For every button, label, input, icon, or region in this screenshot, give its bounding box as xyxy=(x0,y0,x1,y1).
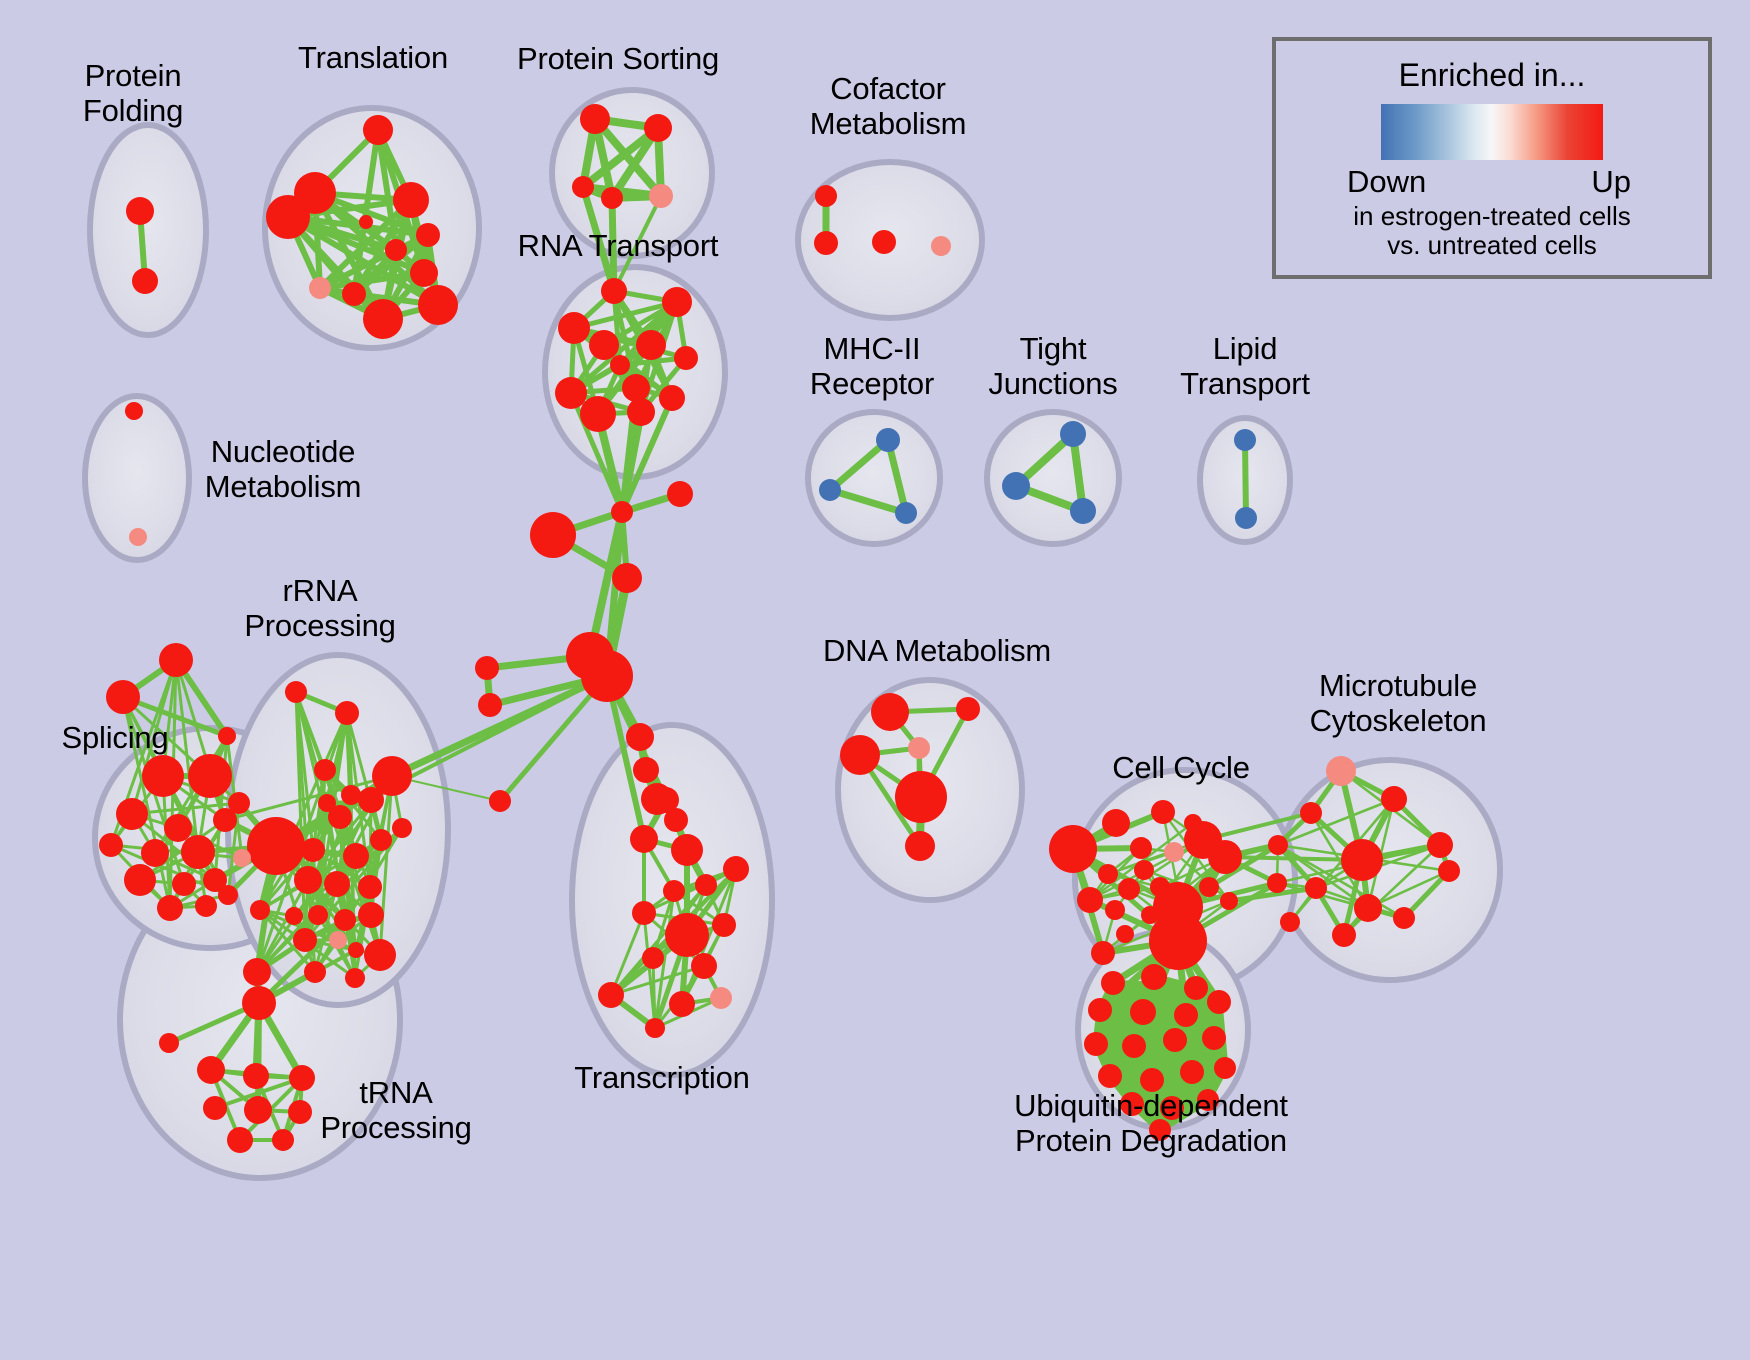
gene-set-node[interactable] xyxy=(555,377,587,409)
gene-set-node[interactable] xyxy=(341,785,361,805)
gene-set-node[interactable] xyxy=(181,835,215,869)
gene-set-node[interactable] xyxy=(172,872,196,896)
cluster-label-protein-folding: Protein Folding xyxy=(83,58,183,128)
gene-set-node[interactable] xyxy=(649,184,673,208)
gene-set-node[interactable] xyxy=(1116,925,1134,943)
gene-set-node[interactable] xyxy=(659,385,685,411)
gene-set-node[interactable] xyxy=(243,1063,269,1089)
halo-protein-folding xyxy=(90,125,206,335)
gene-set-node[interactable] xyxy=(872,230,896,254)
gene-set-node[interactable] xyxy=(370,829,392,851)
gene-set-node[interactable] xyxy=(627,398,655,426)
gene-set-node[interactable] xyxy=(601,187,623,209)
gene-set-node[interactable] xyxy=(814,231,838,255)
cluster-label-lipid-transport: Lipid Transport xyxy=(1180,331,1310,401)
gene-set-node[interactable] xyxy=(1174,1003,1198,1027)
gene-set-node[interactable] xyxy=(393,182,429,218)
gene-set-node[interactable] xyxy=(636,330,666,360)
gene-set-node[interactable] xyxy=(1268,835,1288,855)
gene-set-node[interactable] xyxy=(1267,873,1287,893)
gene-set-node[interactable] xyxy=(895,502,917,524)
gene-set-node[interactable] xyxy=(1214,1057,1236,1079)
gene-set-node[interactable] xyxy=(272,1129,294,1151)
gene-set-node[interactable] xyxy=(601,278,627,304)
gene-set-node[interactable] xyxy=(416,223,440,247)
gene-set-node[interactable] xyxy=(1091,941,1115,965)
gene-set-node[interactable] xyxy=(129,528,147,546)
gene-set-node[interactable] xyxy=(632,901,656,925)
gene-set-node[interactable] xyxy=(126,197,154,225)
gene-set-node[interactable] xyxy=(359,215,373,229)
gene-set-node[interactable] xyxy=(695,874,717,896)
gene-set-node[interactable] xyxy=(1332,923,1356,947)
cluster-label-rrna: rRNA Processing xyxy=(244,573,395,643)
gene-set-node[interactable] xyxy=(710,987,732,1009)
gene-set-node[interactable] xyxy=(840,735,880,775)
gene-set-node[interactable] xyxy=(141,839,169,867)
gene-set-node[interactable] xyxy=(1105,900,1125,920)
gene-set-node[interactable] xyxy=(669,991,695,1017)
gene-set-node[interactable] xyxy=(1141,964,1167,990)
cluster-label-dna-metabolism: DNA Metabolism xyxy=(823,633,1051,668)
gene-set-node[interactable] xyxy=(345,968,365,988)
cluster-label-trna: tRNA Processing xyxy=(320,1075,471,1145)
gene-set-node[interactable] xyxy=(159,1033,179,1053)
gene-set-node[interactable] xyxy=(723,856,749,882)
gene-set-node[interactable] xyxy=(324,871,350,897)
gene-set-node[interactable] xyxy=(931,236,951,256)
gene-set-node[interactable] xyxy=(1122,1034,1146,1058)
gene-set-node[interactable] xyxy=(642,947,664,969)
gene-set-node[interactable] xyxy=(815,185,837,207)
gene-set-node[interactable] xyxy=(1141,906,1159,924)
gene-set-node[interactable] xyxy=(358,902,384,928)
gene-set-node[interactable] xyxy=(233,849,251,867)
gene-set-node[interactable] xyxy=(645,1018,665,1038)
gene-set-node[interactable] xyxy=(610,355,630,375)
gene-set-node[interactable] xyxy=(895,771,947,823)
gene-set-node[interactable] xyxy=(1130,999,1156,1025)
gene-set-node[interactable] xyxy=(266,195,310,239)
gene-set-node[interactable] xyxy=(589,330,619,360)
gene-set-node[interactable] xyxy=(285,681,307,703)
legend-subtitle: in estrogen-treated cells vs. untreated … xyxy=(1276,202,1708,260)
gene-set-node[interactable] xyxy=(329,931,347,949)
gene-set-node[interactable] xyxy=(1381,786,1407,812)
gene-set-node[interactable] xyxy=(1393,907,1415,929)
gene-set-node[interactable] xyxy=(475,656,499,680)
gene-set-node[interactable] xyxy=(363,115,393,145)
gene-set-node[interactable] xyxy=(622,374,650,402)
gene-set-node[interactable] xyxy=(410,259,438,287)
gene-set-node[interactable] xyxy=(712,913,736,937)
gene-set-node[interactable] xyxy=(197,1056,225,1084)
gene-set-node[interactable] xyxy=(385,239,407,261)
enrichment-map-figure: Protein Folding Translation Protein Sort… xyxy=(0,0,1750,1360)
gene-set-node[interactable] xyxy=(876,428,900,452)
gene-set-node[interactable] xyxy=(1098,1064,1122,1088)
gene-set-node[interactable] xyxy=(334,909,356,931)
gene-set-node[interactable] xyxy=(124,864,156,896)
gene-set-node[interactable] xyxy=(905,831,935,861)
gene-set-node[interactable] xyxy=(247,817,305,875)
gene-set-node[interactable] xyxy=(489,790,511,812)
gene-set-node[interactable] xyxy=(132,268,158,294)
legend-endpoints: Down Up xyxy=(1347,164,1637,200)
gene-set-node[interactable] xyxy=(674,346,698,370)
gene-set-node[interactable] xyxy=(392,818,412,838)
gene-set-node[interactable] xyxy=(364,939,396,971)
gene-set-node[interactable] xyxy=(819,479,841,501)
gene-set-node[interactable] xyxy=(1070,498,1096,524)
gene-set-node[interactable] xyxy=(667,481,693,507)
cluster-label-tight-junctions: Tight Junctions xyxy=(988,331,1117,401)
gene-set-node[interactable] xyxy=(1049,825,1097,873)
gene-set-node[interactable] xyxy=(1077,887,1103,913)
gene-set-node[interactable] xyxy=(1427,832,1453,858)
gene-set-node[interactable] xyxy=(1300,802,1322,824)
gene-set-node[interactable] xyxy=(106,680,140,714)
gene-set-node[interactable] xyxy=(1235,507,1257,529)
cluster-label-splicing: Splicing xyxy=(62,720,169,755)
cluster-label-rna-transport: RNA Transport xyxy=(518,228,719,263)
gene-set-node[interactable] xyxy=(195,895,217,917)
gene-set-node[interactable] xyxy=(530,512,576,558)
gene-set-node[interactable] xyxy=(188,754,232,798)
gene-set-node[interactable] xyxy=(908,737,930,759)
gene-set-node[interactable] xyxy=(1184,976,1208,1000)
gene-set-node[interactable] xyxy=(1220,892,1238,910)
gene-set-node[interactable] xyxy=(1134,860,1154,880)
gene-set-node[interactable] xyxy=(1326,756,1356,786)
cluster-label-protein-sorting: Protein Sorting xyxy=(517,41,719,76)
gene-set-node[interactable] xyxy=(478,693,502,717)
gene-set-node[interactable] xyxy=(228,792,250,814)
legend-title: Enriched in... xyxy=(1276,57,1708,94)
gene-set-node[interactable] xyxy=(581,650,633,702)
gene-set-node[interactable] xyxy=(1098,864,1118,884)
legend-up-label: Up xyxy=(1591,164,1631,200)
gene-set-node[interactable] xyxy=(358,875,382,899)
gene-set-node[interactable] xyxy=(580,396,616,432)
gene-set-node[interactable] xyxy=(572,176,594,198)
legend-panel: Enriched in... Down Up in estrogen-treat… xyxy=(1272,37,1712,279)
gene-set-node[interactable] xyxy=(1149,912,1207,970)
gene-set-node[interactable] xyxy=(1130,837,1152,859)
gene-set-node[interactable] xyxy=(598,982,624,1008)
gene-set-node[interactable] xyxy=(116,798,148,830)
gene-set-node[interactable] xyxy=(1101,971,1125,995)
gene-set-node[interactable] xyxy=(285,907,303,925)
gene-set-node[interactable] xyxy=(308,905,328,925)
gene-set-node[interactable] xyxy=(664,808,688,832)
gene-set-node[interactable] xyxy=(294,866,322,894)
gene-set-node[interactable] xyxy=(1207,990,1231,1014)
gene-set-node[interactable] xyxy=(612,563,642,593)
gene-set-node[interactable] xyxy=(558,312,590,344)
gene-set-node[interactable] xyxy=(164,814,192,842)
gene-set-node[interactable] xyxy=(242,986,276,1020)
gene-set-node[interactable] xyxy=(293,928,317,952)
gene-set-node[interactable] xyxy=(335,701,359,725)
gene-set-node[interactable] xyxy=(218,885,238,905)
gene-set-node[interactable] xyxy=(218,727,236,745)
gene-set-node[interactable] xyxy=(159,643,193,677)
gene-set-node[interactable] xyxy=(125,402,143,420)
gene-set-node[interactable] xyxy=(611,501,633,523)
gene-set-node[interactable] xyxy=(665,913,709,957)
gene-set-node[interactable] xyxy=(304,961,326,983)
cluster-label-mhc-ii: MHC-II Receptor xyxy=(810,331,934,401)
gene-set-node[interactable] xyxy=(633,757,659,783)
cluster-label-transcription: Transcription xyxy=(574,1060,749,1095)
gene-set-node[interactable] xyxy=(1118,878,1140,900)
gene-set-node[interactable] xyxy=(871,693,909,731)
gene-set-node[interactable] xyxy=(1164,842,1184,862)
gene-set-node[interactable] xyxy=(318,794,336,812)
gene-set-node[interactable] xyxy=(1354,894,1382,922)
gene-set-node[interactable] xyxy=(663,880,685,902)
cluster-label-ubiquitin: Ubiquitin-dependent Protein Degradation xyxy=(1014,1088,1288,1158)
gene-set-node[interactable] xyxy=(956,697,980,721)
gene-set-node[interactable] xyxy=(348,942,364,958)
gene-set-node[interactable] xyxy=(418,285,458,325)
cluster-label-nucleotide: Nucleotide Metabolism xyxy=(205,434,362,504)
gene-set-node[interactable] xyxy=(314,759,336,781)
gene-set-node[interactable] xyxy=(1084,1032,1108,1056)
gene-set-node[interactable] xyxy=(1199,877,1219,897)
gene-set-node[interactable] xyxy=(1234,429,1256,451)
gene-set-node[interactable] xyxy=(244,1096,272,1124)
gene-set-node[interactable] xyxy=(1002,472,1030,500)
gene-set-node[interactable] xyxy=(243,958,271,986)
gene-set-node[interactable] xyxy=(1102,809,1130,837)
cluster-label-cell-cycle: Cell Cycle xyxy=(1112,750,1250,785)
gene-set-node[interactable] xyxy=(1151,800,1175,824)
gene-set-node[interactable] xyxy=(691,953,717,979)
gene-set-node[interactable] xyxy=(1202,1026,1226,1050)
gene-set-node[interactable] xyxy=(580,104,610,134)
gene-set-node[interactable] xyxy=(99,833,123,857)
gene-set-node[interactable] xyxy=(343,843,369,869)
gene-set-node[interactable] xyxy=(363,299,403,339)
gene-set-node[interactable] xyxy=(157,895,183,921)
cluster-label-translation: Translation xyxy=(298,40,448,75)
gene-set-node[interactable] xyxy=(671,834,703,866)
gene-set-node[interactable] xyxy=(630,825,658,853)
gene-set-node[interactable] xyxy=(1060,421,1086,447)
gene-set-node[interactable] xyxy=(1438,860,1460,882)
gene-set-node[interactable] xyxy=(644,114,672,142)
gene-set-node[interactable] xyxy=(358,787,384,813)
gene-set-node[interactable] xyxy=(1180,1060,1204,1084)
gene-set-node[interactable] xyxy=(1341,839,1383,881)
gene-set-node[interactable] xyxy=(1208,840,1242,874)
gene-set-node[interactable] xyxy=(250,900,270,920)
gene-set-node[interactable] xyxy=(288,1100,312,1124)
gene-set-node[interactable] xyxy=(342,282,366,306)
gene-set-node[interactable] xyxy=(1163,1028,1187,1052)
halo-mhc-ii xyxy=(808,412,940,544)
gene-set-node[interactable] xyxy=(203,1096,227,1120)
gene-set-node[interactable] xyxy=(626,723,654,751)
gene-set-node[interactable] xyxy=(227,1127,253,1153)
gene-set-node[interactable] xyxy=(1280,912,1300,932)
gene-set-node[interactable] xyxy=(1305,877,1327,899)
gene-set-node[interactable] xyxy=(662,287,692,317)
legend-color-gradient xyxy=(1381,104,1603,160)
legend-down-label: Down xyxy=(1347,164,1426,200)
gene-set-node[interactable] xyxy=(1088,998,1112,1022)
gene-set-node[interactable] xyxy=(309,277,331,299)
cluster-label-cofactor: Cofactor Metabolism xyxy=(810,71,967,141)
gene-set-node[interactable] xyxy=(289,1065,315,1091)
cluster-label-microtubule: Microtubule Cytoskeleton xyxy=(1310,668,1487,738)
gene-set-node[interactable] xyxy=(142,755,184,797)
